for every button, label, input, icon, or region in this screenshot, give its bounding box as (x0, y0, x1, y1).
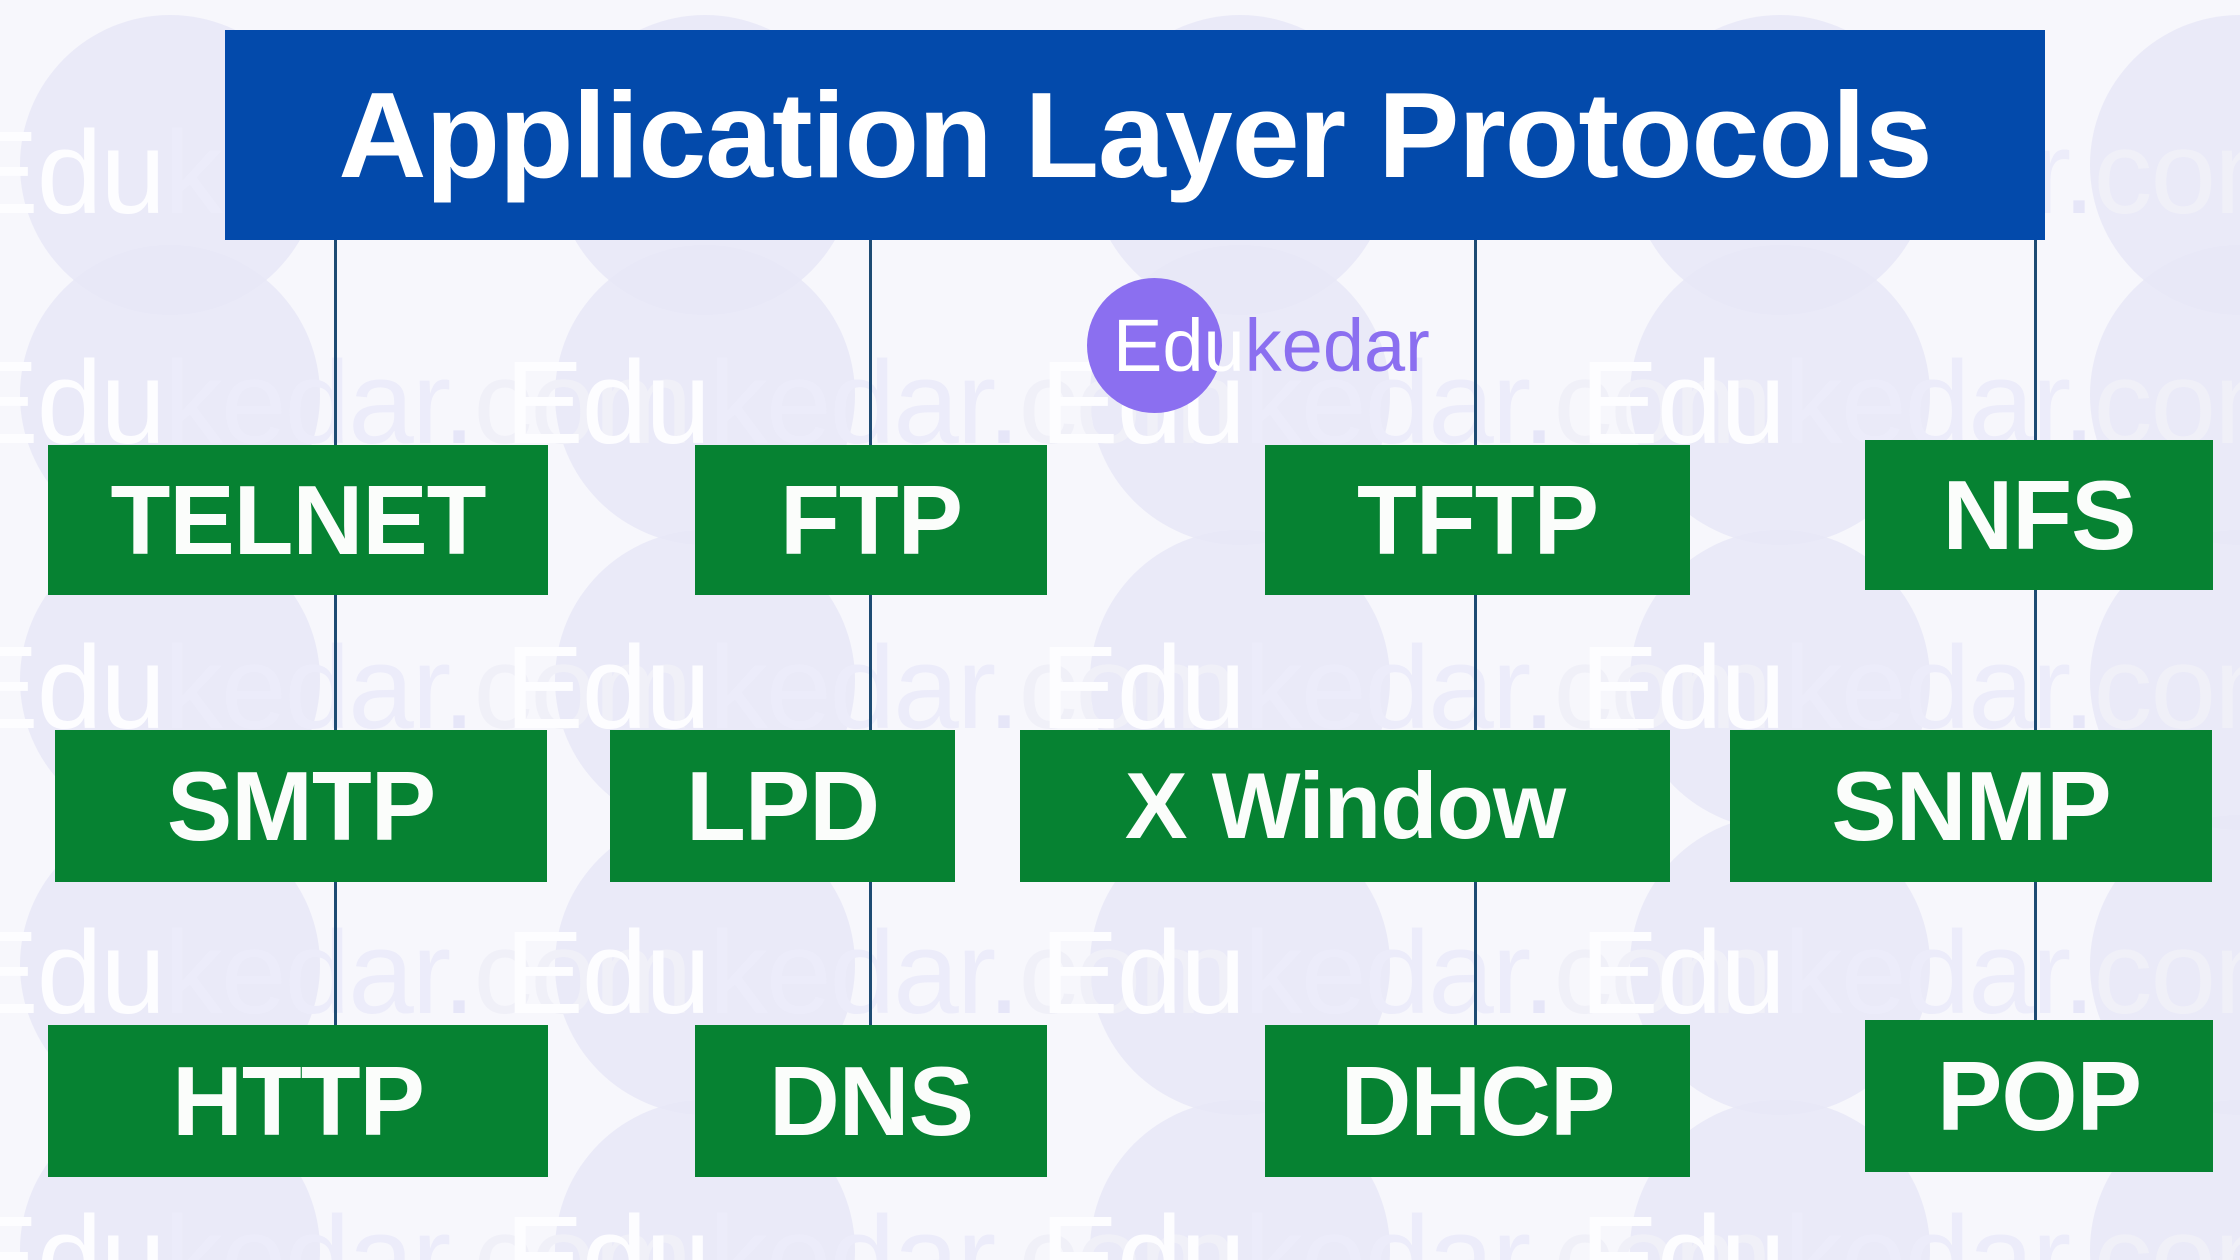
logo-text: Edukedar (1113, 309, 1430, 383)
page-title: Application Layer Protocols (338, 74, 1931, 196)
connector-line (334, 240, 337, 445)
protocol-box-pop[interactable]: POP (1865, 1020, 2213, 1172)
protocol-box-label: SMTP (167, 757, 435, 855)
logo-text-secondary: kedar (1245, 304, 1430, 387)
protocol-box-label: LPD (686, 757, 879, 855)
protocol-box-http[interactable]: HTTP (48, 1025, 548, 1177)
protocol-box-smtp[interactable]: SMTP (55, 730, 547, 882)
protocol-box-label: POP (1937, 1047, 2141, 1145)
protocol-box-label: DNS (769, 1052, 973, 1150)
protocol-box-label: X Window (1125, 759, 1565, 853)
diagram-canvas: Edukedar.comEdukedar.comEdukedar.comEduk… (0, 0, 2240, 1260)
logo-text-primary: Edu (1113, 304, 1245, 387)
connector-line (869, 882, 872, 1025)
watermark-text: Edukedar.com (1040, 1190, 1770, 1260)
protocol-box-dns[interactable]: DNS (695, 1025, 1047, 1177)
protocol-box-label: TELNET (110, 471, 485, 569)
connector-line (1474, 595, 1477, 730)
connector-line (869, 595, 872, 730)
protocol-box-ftp[interactable]: FTP (695, 445, 1047, 595)
protocol-box-tftp[interactable]: TFTP (1265, 445, 1690, 595)
connector-line (334, 595, 337, 730)
protocol-box-label: TFTP (1357, 471, 1598, 569)
protocol-box-nfs[interactable]: NFS (1865, 440, 2213, 590)
watermark-text: Edukedar.com (1580, 1190, 2240, 1260)
watermark-text: Edukedar.com (1040, 905, 1770, 1041)
watermark-blob (2090, 15, 2240, 315)
connector-line (1474, 240, 1477, 445)
protocol-box-lpd[interactable]: LPD (610, 730, 955, 882)
protocol-box-label: DHCP (1341, 1052, 1615, 1150)
connector-line (2034, 882, 2037, 1020)
protocol-box-telnet[interactable]: TELNET (48, 445, 548, 595)
watermark-text: Edukedar.com (0, 905, 690, 1041)
connector-line (869, 240, 872, 445)
protocol-box-x-window[interactable]: X Window (1020, 730, 1670, 882)
protocol-box-label: FTP (780, 471, 962, 569)
protocol-box-dhcp[interactable]: DHCP (1265, 1025, 1690, 1177)
protocol-box-label: HTTP (172, 1052, 424, 1150)
watermark-text: Edukedar.com (505, 1190, 1235, 1260)
protocol-box-label: NFS (1943, 466, 2136, 564)
watermark-text: Edukedar.com (0, 1190, 690, 1260)
brand-logo[interactable]: Edukedar (1087, 278, 1447, 413)
protocol-box-label: SNMP (1831, 757, 2110, 855)
connector-line (334, 882, 337, 1025)
protocol-box-snmp[interactable]: SNMP (1730, 730, 2212, 882)
connector-line (1474, 882, 1477, 1025)
page-title-bar: Application Layer Protocols (225, 30, 2045, 240)
connector-line (2034, 590, 2037, 730)
connector-line (2034, 240, 2037, 440)
